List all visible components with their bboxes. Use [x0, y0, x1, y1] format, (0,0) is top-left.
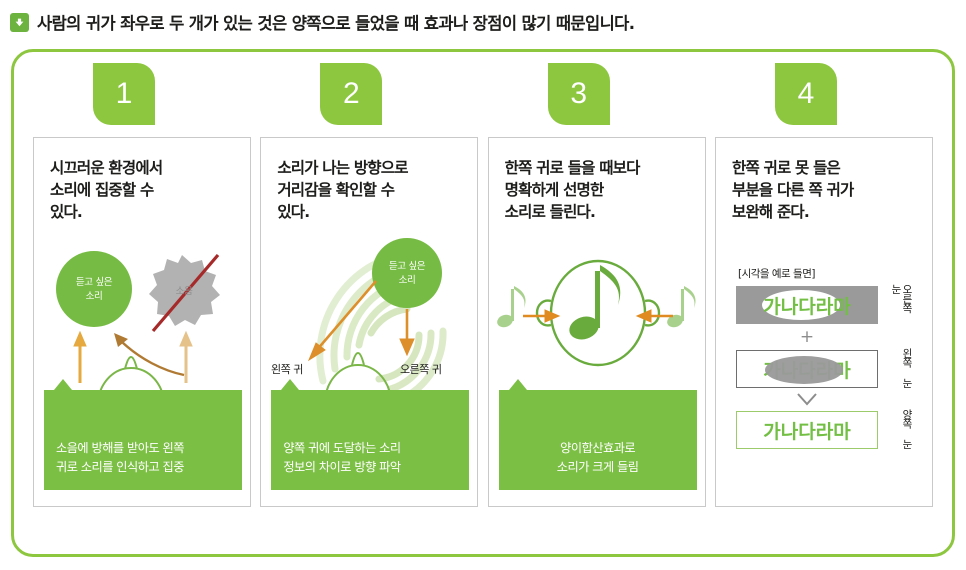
panel-1-caption-text: 소음에 방해를 받아도 왼쪽 귀로 소리를 인식하고 집중: [56, 441, 184, 473]
music-note-right: [665, 286, 695, 329]
desired-sound-bubble: [56, 251, 132, 327]
panel-3-caption-text: 양이합산효과로 소리가 크게 들림: [557, 441, 639, 473]
panel-3-card: 한쪽 귀로 들을 때보다 명확하게 선명한 소리로 들린다.: [488, 137, 706, 507]
left-eye-label: 왼쪽 눈: [901, 348, 912, 388]
panel-1-caption: 소음에 방해를 받아도 왼쪽 귀로 소리를 인식하고 집중: [44, 390, 242, 490]
both-eyes-label: 양쪽 눈: [901, 409, 912, 449]
desired-sound-label-line1: 듣고 싶은: [389, 261, 426, 272]
panel-1-number-badge: 1: [93, 63, 155, 125]
vision-analogy-diagram: 가나다라마 오른쪽 눈 + 가나다라마 왼쪽 눈: [736, 286, 914, 449]
right-eye-text: 가나다라마: [763, 292, 850, 319]
panel-1: 1 시끄러운 환경에서 소리에 집중할 수 있다.: [33, 63, 251, 557]
caption-tail: [281, 379, 299, 390]
music-note-large: [566, 265, 620, 343]
vision-analogy-note: [시각을 예로 들면]: [738, 266, 815, 281]
desired-sound-label-line2: 소리: [86, 291, 103, 302]
plus-sign: +: [736, 324, 878, 350]
panel-2-title: 소리가 나는 방향으로 거리감을 확인할 수 있다.: [277, 157, 467, 223]
right-eye-label: 오른쪽 눈: [890, 284, 912, 324]
music-note-left: [495, 286, 525, 329]
left-inward-arrow: [523, 310, 559, 322]
panel-2: 2 소리가 나는 방향으로 거리감을 확인할 수 있다.: [260, 63, 478, 557]
panel-3: 3 한쪽 귀로 들을 때보다 명확하게 선명한 소리로 들린다.: [488, 63, 706, 557]
right-eye-bar: 가나다라마: [736, 286, 878, 324]
obscured-region-ellipse: [765, 356, 843, 384]
panel-3-title: 한쪽 귀로 들을 때보다 명확하게 선명한 소리로 들린다.: [505, 157, 695, 223]
panel-2-card: 소리가 나는 방향으로 거리감을 확인할 수 있다.: [260, 137, 478, 507]
panel-1-card: 시끄러운 환경에서 소리에 집중할 수 있다.: [33, 137, 251, 507]
noise-label: 소음: [176, 286, 193, 297]
down-arrow-icon: [10, 13, 29, 32]
panel-row: 1 시끄러운 환경에서 소리에 집중할 수 있다.: [11, 49, 955, 557]
panel-3-number-badge: 3: [548, 63, 610, 125]
panel-4-card: 한쪽 귀로 못 들은 부분을 다른 쪽 귀가 보완해 준다. [시각을 예로 들…: [715, 137, 933, 507]
panel-4-number-badge: 4: [775, 63, 837, 125]
both-eyes-bar: 가나다라마: [736, 411, 878, 449]
panel-2-number-badge: 2: [320, 63, 382, 125]
caption-tail: [509, 379, 527, 390]
desired-sound-bubble: [372, 238, 442, 308]
header-title: 사람의 귀가 좌우로 두 개가 있는 것은 양쪽으로 들었을 때 효과나 장점이…: [37, 10, 634, 34]
caption-tail: [54, 379, 72, 390]
both-eyes-text: 가나다라마: [763, 417, 850, 444]
panel-2-caption: 양쪽 귀에 도달하는 소리 정보의 차이로 방향 파악: [271, 390, 469, 490]
panel-1-title: 시끄러운 환경에서 소리에 집중할 수 있다.: [50, 157, 240, 223]
left-ear-label: 왼쪽 귀: [271, 362, 303, 376]
panel-4-title: 한쪽 귀로 못 들은 부분을 다른 쪽 귀가 보완해 준다.: [732, 157, 922, 223]
left-eye-bar: 가나다라마: [736, 350, 878, 388]
desired-sound-label-line2: 소리: [399, 275, 416, 286]
panel-2-caption-text: 양쪽 귀에 도달하는 소리 정보의 차이로 방향 파악: [283, 441, 400, 473]
panel-4: 4 한쪽 귀로 못 들은 부분을 다른 쪽 귀가 보완해 준다. [시각을 예로…: [715, 63, 933, 557]
page-header: 사람의 귀가 좌우로 두 개가 있는 것은 양쪽으로 들었을 때 효과나 장점이…: [0, 0, 966, 44]
right-ear-label: 오른쪽 귀: [400, 363, 441, 376]
right-ear-arrow: [400, 309, 414, 355]
desired-sound-label-line1: 듣고 싶은: [76, 277, 113, 288]
panel-3-caption: 양이합산효과로 소리가 크게 들림: [499, 390, 697, 490]
chevron-down-icon: [736, 388, 878, 411]
left-ear-arrow: [74, 332, 86, 383]
